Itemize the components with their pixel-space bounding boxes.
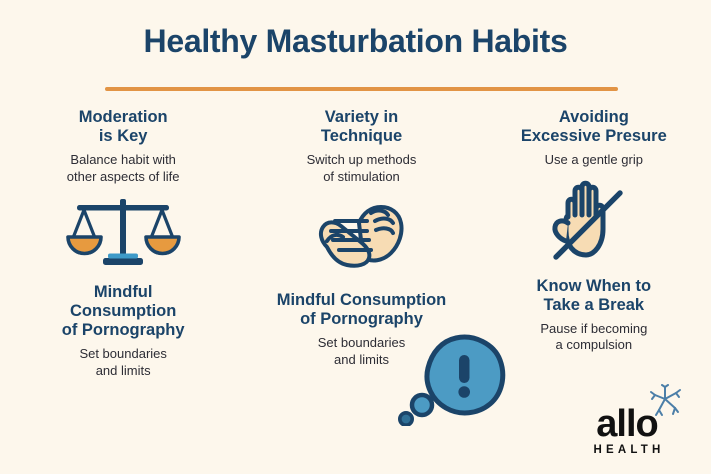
subtext-line: and limits [96, 363, 151, 378]
heading-line: Mindful Consumption [277, 291, 447, 309]
heading-line: is Key [99, 127, 148, 145]
column-moderation: Moderation is Key Balance habit with oth… [0, 108, 246, 408]
subtext-line: Set boundaries [79, 346, 166, 361]
card-heading: Know When to Take a Break [485, 277, 703, 315]
subtext-line: other aspects of life [67, 169, 180, 184]
balance-scale-icon [14, 195, 232, 273]
heading-line: Variety in [325, 108, 398, 126]
logo-tagline: HEALTH [565, 444, 689, 456]
heading-line: of Pornography [62, 321, 185, 339]
heading-line: Moderation [79, 108, 168, 126]
title-divider [105, 87, 618, 91]
header: Healthy Masturbation Habits [0, 24, 711, 60]
no-hand-icon [485, 173, 703, 267]
heading-line: of Pornography [300, 310, 423, 328]
column-pressure: Avoiding Excessive Presure Use a gentle … [477, 108, 711, 408]
card-mindful-consumption: Mindful Consumption of Pornography Set b… [14, 283, 232, 379]
card-avoiding-excessive-pressure: Avoiding Excessive Presure Use a gentle … [485, 108, 703, 169]
subtext-line: Switch up methods [307, 152, 417, 167]
card-variety-in-technique: Variety in Technique Switch up methods o… [252, 108, 470, 185]
column-variety: Variety in Technique Switch up methods o… [246, 108, 476, 408]
heading-line: Excessive Presure [521, 127, 667, 145]
subtext-line: and limits [334, 352, 389, 367]
heading-line: Avoiding [559, 108, 629, 126]
subtext-line: Set boundaries [318, 335, 405, 350]
card-subtext: Switch up methods of stimulation [252, 152, 470, 185]
subtext-line: Pause if becoming [540, 321, 647, 336]
subtext-line: Use a gentle grip [545, 152, 643, 167]
clasped-hands-icon [252, 193, 470, 273]
subtext-line: a compulsion [556, 337, 633, 352]
card-heading: Mindful Consumption of Pornography [14, 283, 232, 340]
heading-line: Mindful [94, 283, 153, 301]
card-subtext: Set boundaries and limits [252, 335, 470, 368]
card-subtext: Set boundaries and limits [14, 346, 232, 379]
card-heading: Avoiding Excessive Presure [485, 108, 703, 146]
heading-line: Know When to [537, 277, 652, 295]
page-title: Healthy Masturbation Habits [0, 24, 711, 60]
logo-wordmark: allo [565, 406, 689, 442]
card-moderation-is-key: Moderation is Key Balance habit with oth… [14, 108, 232, 185]
allo-health-logo[interactable]: allo HEALTH [565, 384, 689, 456]
card-know-when-to-take-a-break: Know When to Take a Break Pause if becom… [485, 277, 703, 354]
logo-wordmark-group: allo HEALTH [565, 406, 689, 456]
card-heading: Variety in Technique [252, 108, 470, 146]
card-mindful-consumption-mid: Mindful Consumption of Pornography Set b… [252, 291, 470, 368]
card-subtext: Pause if becoming a compulsion [485, 321, 703, 354]
content-grid: Moderation is Key Balance habit with oth… [0, 108, 711, 408]
card-heading: Moderation is Key [14, 108, 232, 146]
card-subtext: Use a gentle grip [485, 152, 703, 168]
heading-line: Consumption [70, 302, 176, 320]
subtext-line: Balance habit with [70, 152, 176, 167]
infographic-canvas: Healthy Masturbation Habits Moderation i… [0, 0, 711, 474]
card-subtext: Balance habit with other aspects of life [14, 152, 232, 185]
subtext-line: of stimulation [323, 169, 400, 184]
heading-line: Take a Break [544, 296, 645, 314]
card-heading: Mindful Consumption of Pornography [252, 291, 470, 329]
heading-line: Technique [321, 127, 402, 145]
